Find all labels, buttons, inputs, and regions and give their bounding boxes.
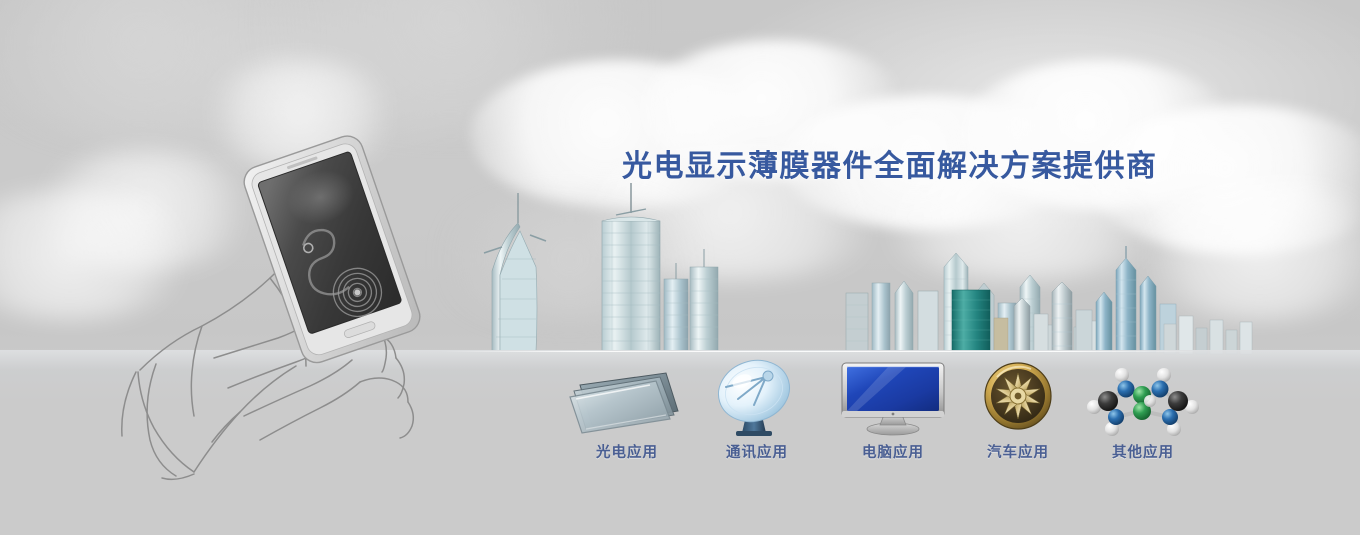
promotional-banner: 光电应用 xyxy=(0,0,1360,535)
app-item-communication[interactable]: 通讯应用 xyxy=(692,355,822,462)
app-label: 汽车应用 xyxy=(953,441,1083,462)
app-item-computer[interactable]: 电脑应用 xyxy=(828,355,958,462)
satellite-dish-icon xyxy=(692,355,822,437)
app-item-optoelectronic[interactable]: 光电应用 xyxy=(562,355,692,462)
car-wheel-rim-icon xyxy=(953,355,1083,437)
app-item-automotive[interactable]: 汽车应用 xyxy=(953,355,1083,462)
app-label: 其他应用 xyxy=(1078,441,1208,462)
page-title: 光电显示薄膜器件全面解决方案提供商 xyxy=(622,141,1158,185)
computer-monitor-icon xyxy=(828,355,958,437)
molecule-model-icon xyxy=(1078,355,1208,437)
app-label: 电脑应用 xyxy=(828,441,958,462)
application-row: 光电应用 xyxy=(0,0,1360,535)
app-item-other[interactable]: 其他应用 xyxy=(1078,355,1208,462)
app-label: 通讯应用 xyxy=(692,441,822,462)
glass-film-panels-icon xyxy=(562,355,692,437)
app-label: 光电应用 xyxy=(562,441,692,462)
